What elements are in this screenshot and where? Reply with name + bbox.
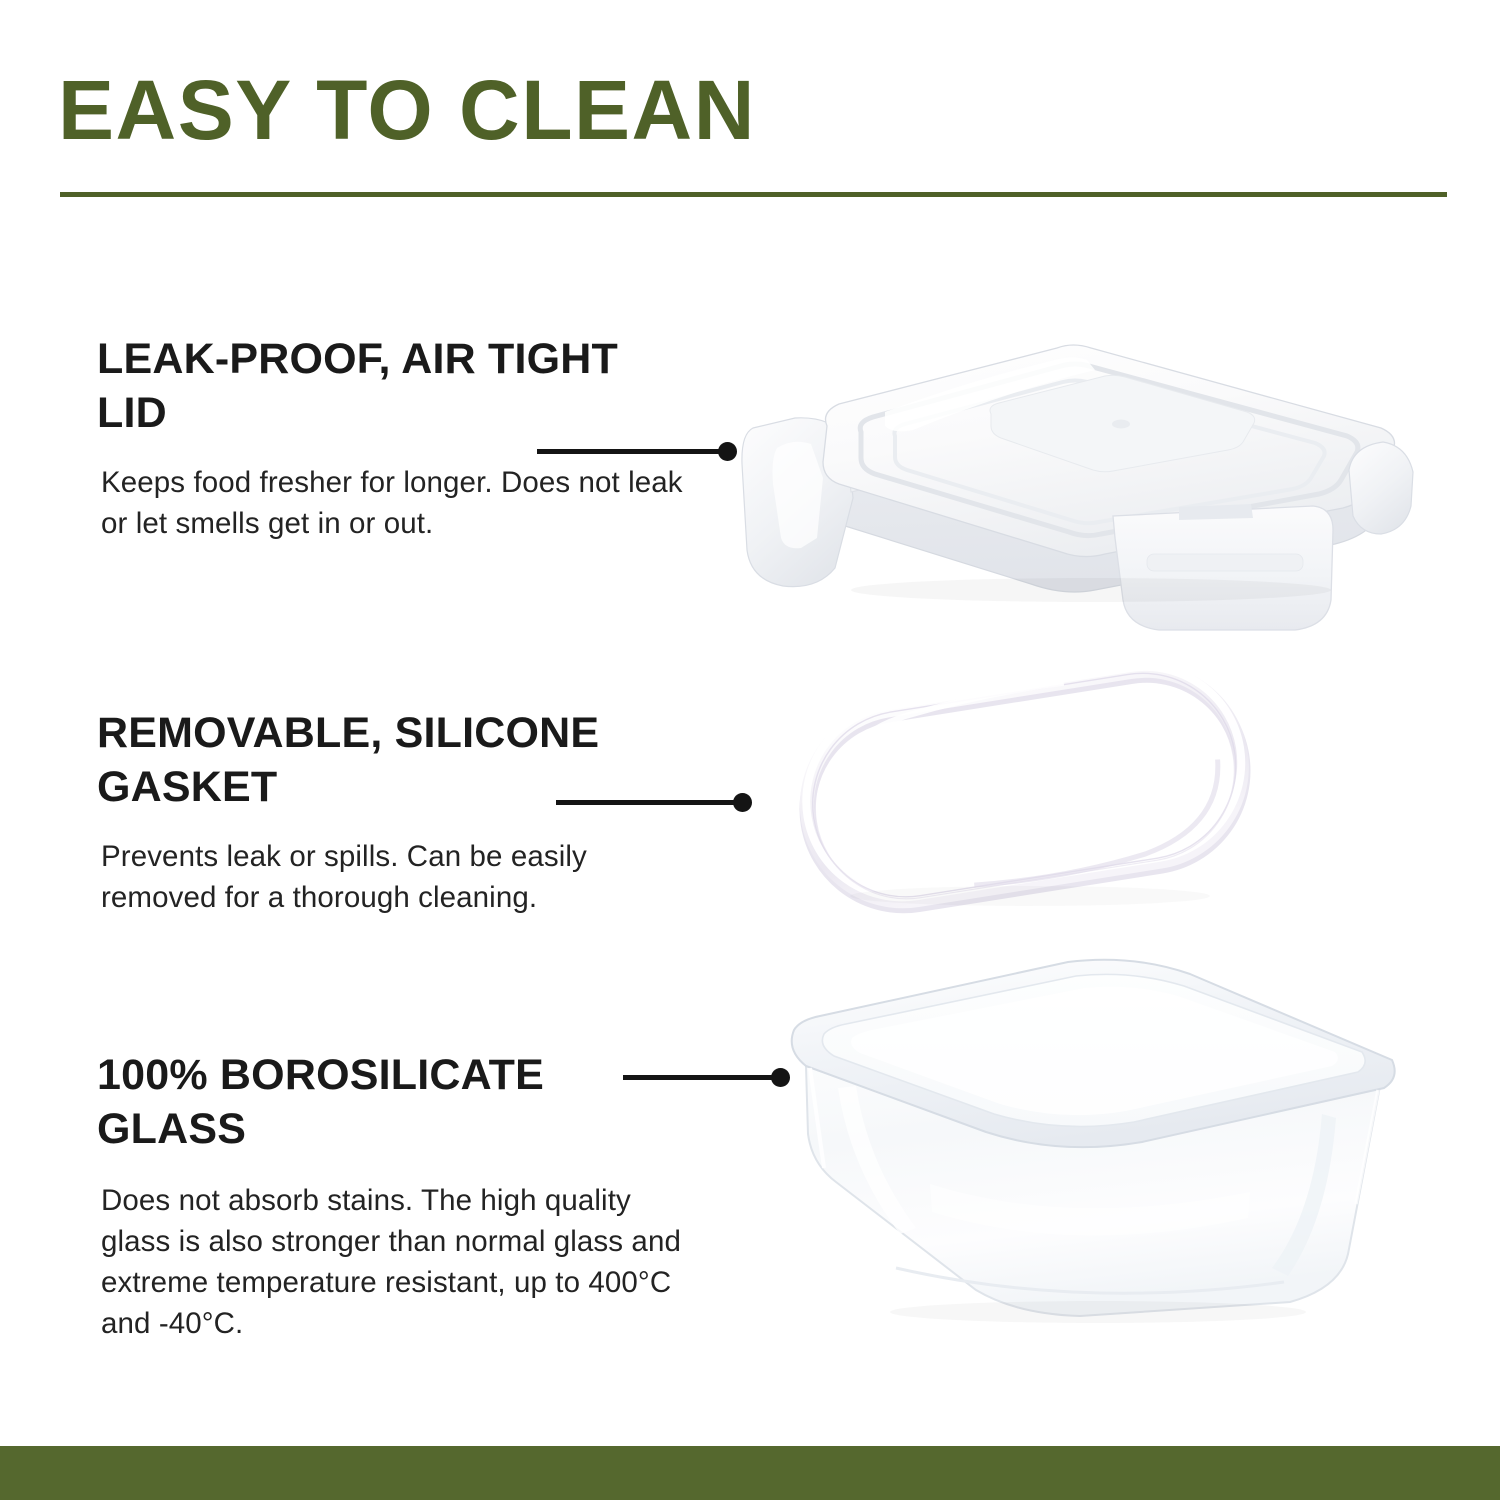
silicone-gasket-photo xyxy=(790,658,1260,923)
lid-shadow xyxy=(851,578,1331,602)
lid-clip-front-ridge xyxy=(1147,554,1303,571)
gasket-ring xyxy=(792,658,1256,919)
glass-shadow xyxy=(890,1301,1306,1323)
borosilicate-glass-container-photo xyxy=(780,938,1405,1323)
feature-body-glass: Does not absorb stains. The high quality… xyxy=(101,1180,697,1344)
connector-line-gasket xyxy=(556,800,750,805)
connector-dot-gasket xyxy=(733,793,752,812)
page-title: EASY TO CLEAN xyxy=(58,62,756,158)
airtight-lid-photo xyxy=(735,338,1425,648)
feature-block-lid: LEAK-PROOF, AIR TIGHT LID Keeps food fre… xyxy=(97,332,697,544)
feature-body-lid: Keeps food fresher for longer. Does not … xyxy=(101,462,697,544)
feature-heading-gasket: REMOVABLE, SILICONE GASKET xyxy=(97,706,697,814)
feature-heading-lid: LEAK-PROOF, AIR TIGHT LID xyxy=(97,332,697,440)
connector-line-lid xyxy=(537,449,733,454)
gasket-shadow xyxy=(850,886,1210,906)
lid-clip-right xyxy=(1349,442,1413,534)
feature-block-gasket: REMOVABLE, SILICONE GASKET Prevents leak… xyxy=(97,706,697,918)
lid-center-mark xyxy=(1112,420,1130,429)
feature-block-glass: 100% BOROSILICATE GLASS Does not absorb … xyxy=(97,1048,697,1344)
header-divider-rule xyxy=(60,192,1447,197)
connector-line-glass xyxy=(623,1075,788,1080)
feature-heading-glass: 100% BOROSILICATE GLASS xyxy=(97,1048,697,1156)
infographic-page: EASY TO CLEAN LEAK-PROOF, AIR TIGHT LID … xyxy=(0,0,1500,1500)
feature-body-gasket: Prevents leak or spills. Can be easily r… xyxy=(101,836,697,918)
footer-accent-bar xyxy=(0,1446,1500,1500)
